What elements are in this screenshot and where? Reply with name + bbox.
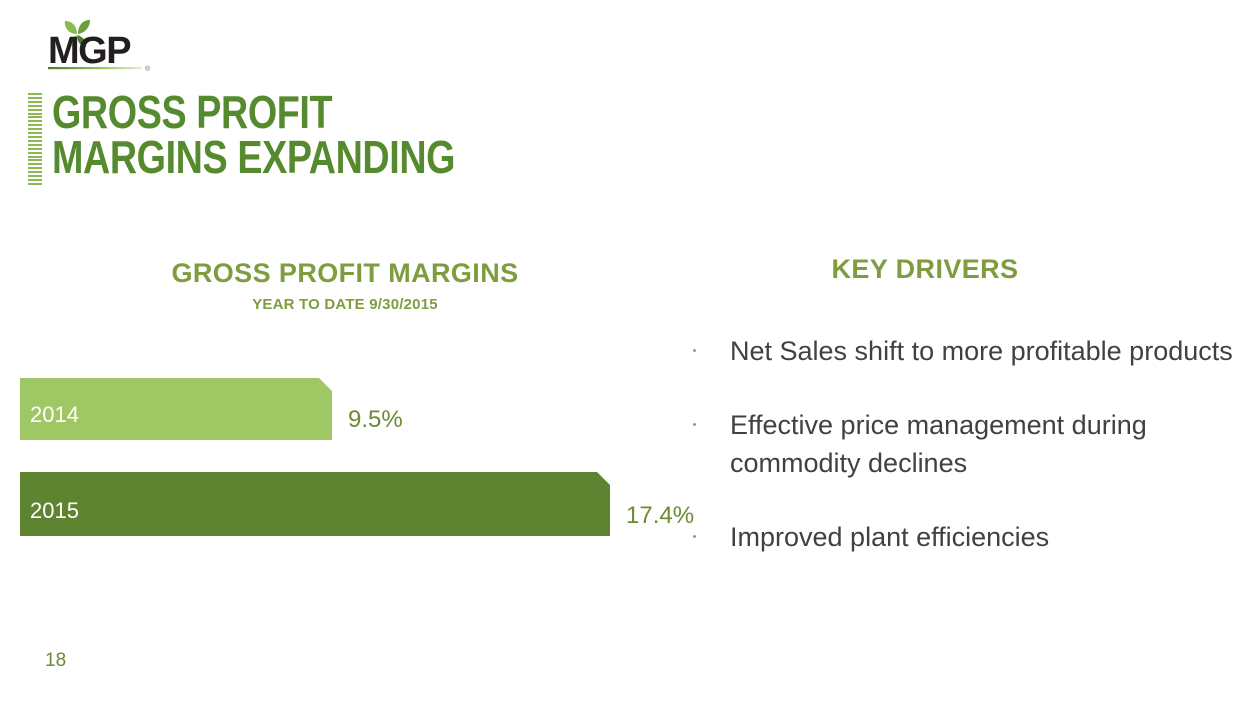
tick-mark bbox=[28, 183, 42, 185]
bar-2015: 2015 bbox=[20, 472, 610, 536]
bar-row-2014: 2014 9.5% bbox=[20, 378, 403, 440]
tick-mark bbox=[28, 113, 42, 115]
tick-mark bbox=[28, 148, 42, 150]
svg-text:MGP: MGP bbox=[48, 30, 131, 72]
mgp-logo-svg: MGP ® bbox=[48, 18, 158, 74]
tick-mark bbox=[28, 136, 42, 138]
tick-mark bbox=[28, 140, 42, 142]
tick-mark bbox=[28, 132, 42, 134]
bar-value-2014: 9.5% bbox=[348, 406, 403, 440]
bar-group: 2014 9.5% 2015 17.4% bbox=[0, 250, 700, 580]
tick-mark bbox=[28, 171, 42, 173]
bullet-dot-icon bbox=[693, 349, 696, 352]
list-item-text: Net Sales shift to more profitable produ… bbox=[730, 336, 1233, 366]
bar-2014: 2014 bbox=[20, 378, 332, 440]
tick-mark bbox=[28, 93, 42, 95]
list-item-text: Effective price management during commod… bbox=[730, 410, 1147, 478]
list-item: Effective price management during commod… bbox=[660, 406, 1235, 482]
bullet-dot-icon bbox=[693, 535, 696, 538]
page-title-line-2: MARGINS EXPANDING bbox=[52, 135, 455, 180]
bullet-dot-icon bbox=[693, 423, 696, 426]
tick-mark bbox=[28, 97, 42, 99]
tick-mark bbox=[28, 124, 42, 126]
tick-mark bbox=[28, 105, 42, 107]
page-title-line-1: GROSS PROFIT bbox=[52, 90, 455, 135]
slide-title-block: GROSS PROFIT MARGINS EXPANDING bbox=[28, 90, 544, 185]
bar-label-2014: 2014 bbox=[30, 402, 79, 428]
tick-mark bbox=[28, 152, 42, 154]
tick-mark bbox=[28, 101, 42, 103]
tick-mark bbox=[28, 109, 42, 111]
tick-mark bbox=[28, 156, 42, 158]
list-item: Net Sales shift to more profitable produ… bbox=[660, 332, 1235, 370]
bar-row-2015: 2015 17.4% bbox=[20, 472, 694, 536]
tick-mark bbox=[28, 179, 42, 181]
tick-mark bbox=[28, 163, 42, 165]
page-title: GROSS PROFIT MARGINS EXPANDING bbox=[52, 90, 544, 185]
tick-mark bbox=[28, 116, 42, 118]
title-tick-decoration bbox=[28, 93, 42, 185]
tick-mark bbox=[28, 175, 42, 177]
registered-mark: ® bbox=[145, 65, 151, 73]
page-number: 18 bbox=[45, 650, 66, 672]
tick-mark bbox=[28, 159, 42, 161]
key-drivers-panel: KEY DRIVERS Net Sales shift to more prof… bbox=[640, 250, 1240, 590]
list-item: Improved plant efficiencies bbox=[660, 518, 1235, 556]
slide-canvas: MGP ® bbox=[0, 0, 1253, 705]
tick-mark bbox=[28, 144, 42, 146]
key-drivers-title: KEY DRIVERS bbox=[640, 254, 1210, 285]
tick-mark bbox=[28, 120, 42, 122]
mgp-logo: MGP ® bbox=[48, 18, 158, 74]
gross-profit-margins-chart: GROSS PROFIT MARGINS YEAR TO DATE 9/30/2… bbox=[0, 250, 700, 580]
tick-mark bbox=[28, 128, 42, 130]
list-item-text: Improved plant efficiencies bbox=[730, 522, 1049, 552]
key-drivers-list: Net Sales shift to more profitable produ… bbox=[660, 332, 1235, 592]
tick-mark bbox=[28, 167, 42, 169]
bar-label-2015: 2015 bbox=[30, 498, 79, 524]
